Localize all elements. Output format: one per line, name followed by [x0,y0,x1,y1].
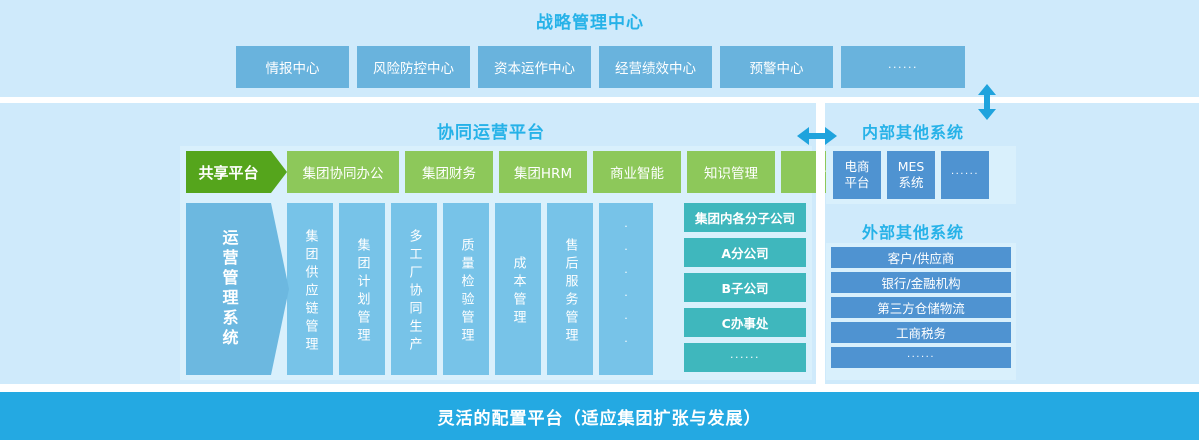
bottom-banner: 灵活的配置平台（适应集团扩张与发展） [0,392,1199,440]
subsidiary-company-b[interactable]: B子公司 [684,273,806,302]
internal-systems-row: 电商 平台 MES 系统 ······ [833,151,989,199]
external-box-third-party-logistics[interactable]: 第三方仓储物流 [831,297,1011,318]
vbox-after-sales-service[interactable]: 售后服务管理 [547,203,593,375]
vbox-quality-inspection[interactable]: 质量检验管理 [443,203,489,375]
horizontal-double-arrow-icon [797,125,837,147]
strategy-box-intelligence[interactable]: 情报中心 [236,46,349,88]
internal-box-line1: ······ [951,169,979,182]
strategy-section-title: 战略管理中心 [536,8,644,33]
strategy-box-performance[interactable]: 经营绩效中心 [599,46,712,88]
strategy-box-capital-operation[interactable]: 资本运作中心 [478,46,591,88]
strategy-box-risk-control[interactable]: 风险防控中心 [357,46,470,88]
shared-platform-row: 共享平台 集团协同办公 集团财务 集团HRM 商业智能 知识管理 ······ [186,151,899,193]
internal-box-line2: 平台 [844,175,869,191]
green-box-business-intelligence[interactable]: 商业智能 [593,151,681,193]
green-box-group-hrm[interactable]: 集团HRM [499,151,587,193]
subsidiary-office-c[interactable]: C办事处 [684,308,806,337]
strategy-box-more[interactable]: ······ [841,46,965,88]
shared-platform-tag[interactable]: 共享平台 [186,151,271,193]
external-box-more[interactable]: ······ [831,347,1011,368]
collab-section-title: 协同运营平台 [437,118,545,143]
green-box-knowledge-management[interactable]: 知识管理 [687,151,775,193]
vbox-supply-chain[interactable]: 集团供应链管理 [287,203,333,375]
internal-box-mes-system[interactable]: MES 系统 [887,151,935,199]
external-systems-list: 客户/供应商 银行/金融机构 第三方仓储物流 工商税务 ······ [831,247,1011,368]
subsidiary-group-companies[interactable]: 集团内各分子公司 [684,203,806,232]
vbox-multi-factory-production[interactable]: 多工厂协同生产 [391,203,437,375]
external-systems-title: 外部其他系统 [862,219,964,243]
vertical-double-arrow-icon [976,84,998,120]
internal-box-line1: MES [898,159,925,175]
internal-systems-title: 内部其他系统 [862,119,964,143]
internal-box-line1: 电商 [844,159,869,175]
strategy-box-early-warning[interactable]: 预警中心 [720,46,833,88]
operations-management-system-tag[interactable]: 运营管理系统 [186,203,271,375]
subsidiary-list: 集团内各分子公司 A分公司 B子公司 C办事处 ······ [684,203,806,372]
external-box-bank-financial[interactable]: 银行/金融机构 [831,272,1011,293]
subsidiary-branch-a[interactable]: A分公司 [684,238,806,267]
operations-system-row: 运营管理系统 集团供应链管理 集团计划管理 多工厂协同生产 质量检验管理 成本管… [186,203,653,375]
strategy-box-row: 情报中心 风险防控中心 资本运作中心 经营绩效中心 预警中心 ······ [236,46,965,88]
green-box-group-finance[interactable]: 集团财务 [405,151,493,193]
vbox-cost-management[interactable]: 成本管理 [495,203,541,375]
diagram-root: 战略管理中心 协同运营平台 内部其他系统 外部其他系统 情报中心 风险防控中心 … [0,0,1199,440]
internal-box-ecommerce-platform[interactable]: 电商 平台 [833,151,881,199]
vbox-more[interactable]: ······ [599,203,653,375]
vbox-planning[interactable]: 集团计划管理 [339,203,385,375]
external-box-tax-authority[interactable]: 工商税务 [831,322,1011,343]
subsidiary-more[interactable]: ······ [684,343,806,372]
external-box-customer-supplier[interactable]: 客户/供应商 [831,247,1011,268]
internal-box-more[interactable]: ······ [941,151,989,199]
green-box-group-office[interactable]: 集团协同办公 [287,151,399,193]
internal-box-line2: 系统 [898,175,923,191]
